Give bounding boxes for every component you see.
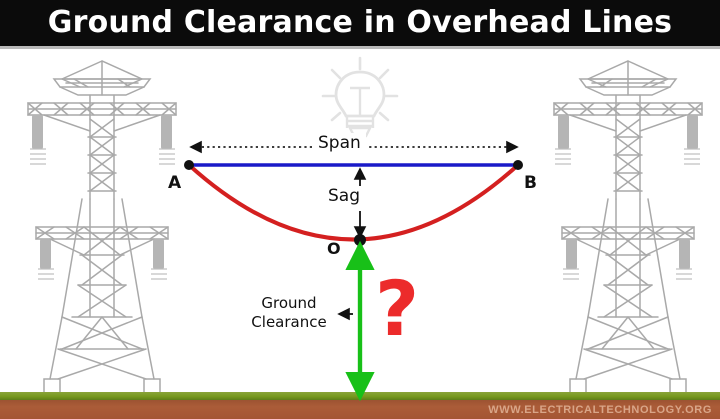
span-label: Span: [313, 133, 366, 153]
title-bar: Ground Clearance in Overhead Lines: [0, 0, 720, 46]
diagram-canvas: Ground Clearance in Overhead Lines: [0, 0, 720, 419]
point-b-marker: [513, 160, 523, 170]
point-o-label: O: [327, 239, 341, 258]
page-title: Ground Clearance in Overhead Lines: [0, 0, 720, 46]
annotation-layer: [0, 49, 720, 419]
illustration-area: WWW.ELECTRICALTECHNOLOGY.ORG: [0, 49, 720, 419]
ground-clearance-label: Ground Clearance: [236, 294, 342, 332]
sag-label: Sag: [324, 186, 364, 206]
point-b-label: B: [524, 173, 537, 193]
point-a-label: A: [168, 173, 181, 193]
point-o-marker: [354, 234, 366, 246]
point-a-marker: [184, 160, 194, 170]
question-mark-symbol: ?: [375, 271, 419, 347]
